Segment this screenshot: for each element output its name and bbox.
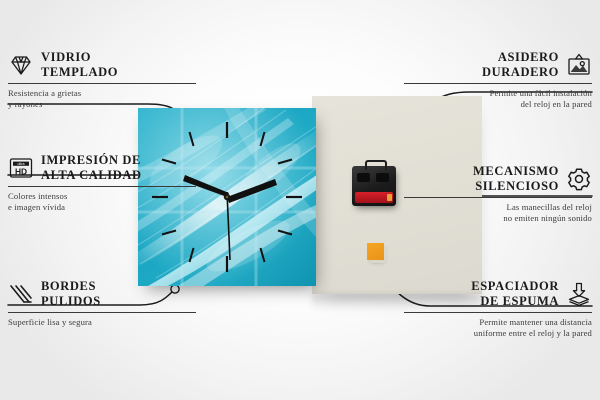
ultra-hd-icon: ultra HD — [8, 155, 34, 181]
feature-title: IMPRESIÓN DEALTA CALIDAD — [41, 153, 142, 183]
mechanism-body-left — [357, 173, 370, 182]
feature-vidrio-templado: VIDRIOTEMPLADO Resistencia a grietasy ra… — [8, 50, 196, 110]
feature-bordes-pulidos: BORDESPULIDOS Superficie lisa y segura — [8, 279, 196, 328]
hanging-frame-icon — [566, 52, 592, 78]
polished-edges-icon — [8, 281, 34, 307]
foam-spacer-icon — [566, 281, 592, 307]
gear-icon — [566, 166, 592, 192]
feature-description: Permite una fácil instalacióndel reloj e… — [404, 88, 592, 111]
clock-tick — [190, 248, 194, 262]
feature-asidero-duradero: ASIDERODURADERO Permite una fácil instal… — [404, 50, 592, 110]
mechanism-hanger — [365, 160, 387, 170]
feature-impresion-alta-calidad: ultra HD IMPRESIÓN DEALTA CALIDAD Colore… — [8, 153, 196, 213]
feature-description: Las manecillas del relojno emiten ningún… — [404, 202, 592, 225]
feature-title: VIDRIOTEMPLADO — [41, 50, 118, 80]
clock-mechanism — [352, 166, 396, 206]
feature-divider — [8, 83, 196, 84]
minute-hand — [227, 179, 277, 203]
feature-description: Superficie lisa y segura — [8, 317, 196, 328]
clock-tick — [261, 248, 265, 262]
feature-divider — [404, 83, 592, 84]
clock-tick — [190, 132, 194, 146]
feature-divider — [404, 197, 592, 198]
feature-title: BORDESPULIDOS — [41, 279, 101, 309]
feature-description: Colores intensose imagen vívida — [8, 191, 196, 214]
feature-divider — [8, 186, 196, 187]
clock-tick — [278, 160, 292, 164]
feature-divider — [8, 312, 196, 313]
feature-title: ASIDERODURADERO — [482, 50, 559, 80]
battery — [355, 192, 393, 203]
feature-title: ESPACIADORDE ESPUMA — [471, 279, 559, 309]
mechanism-body-right — [376, 173, 389, 182]
feature-description: Resistencia a grietasy rayones — [8, 88, 196, 111]
feature-mecanismo-silencioso: MECANISMOSILENCIOSO Las manecillas del r… — [404, 164, 592, 224]
clock-tick — [261, 132, 265, 146]
feature-espaciador-espuma: ESPACIADORDE ESPUMA Permite mantener una… — [404, 279, 592, 339]
feature-divider — [404, 312, 592, 313]
clock-tick — [278, 231, 292, 235]
clock-tick — [162, 231, 176, 235]
feature-title: MECANISMOSILENCIOSO — [473, 164, 559, 194]
diamond-icon — [8, 52, 34, 78]
svg-text:HD: HD — [15, 166, 27, 176]
feature-description: Permite mantener una distanciauniforme e… — [404, 317, 592, 340]
foam-spacer — [367, 243, 384, 260]
infographic-canvas: VIDRIOTEMPLADO Resistencia a grietasy ra… — [0, 0, 600, 400]
